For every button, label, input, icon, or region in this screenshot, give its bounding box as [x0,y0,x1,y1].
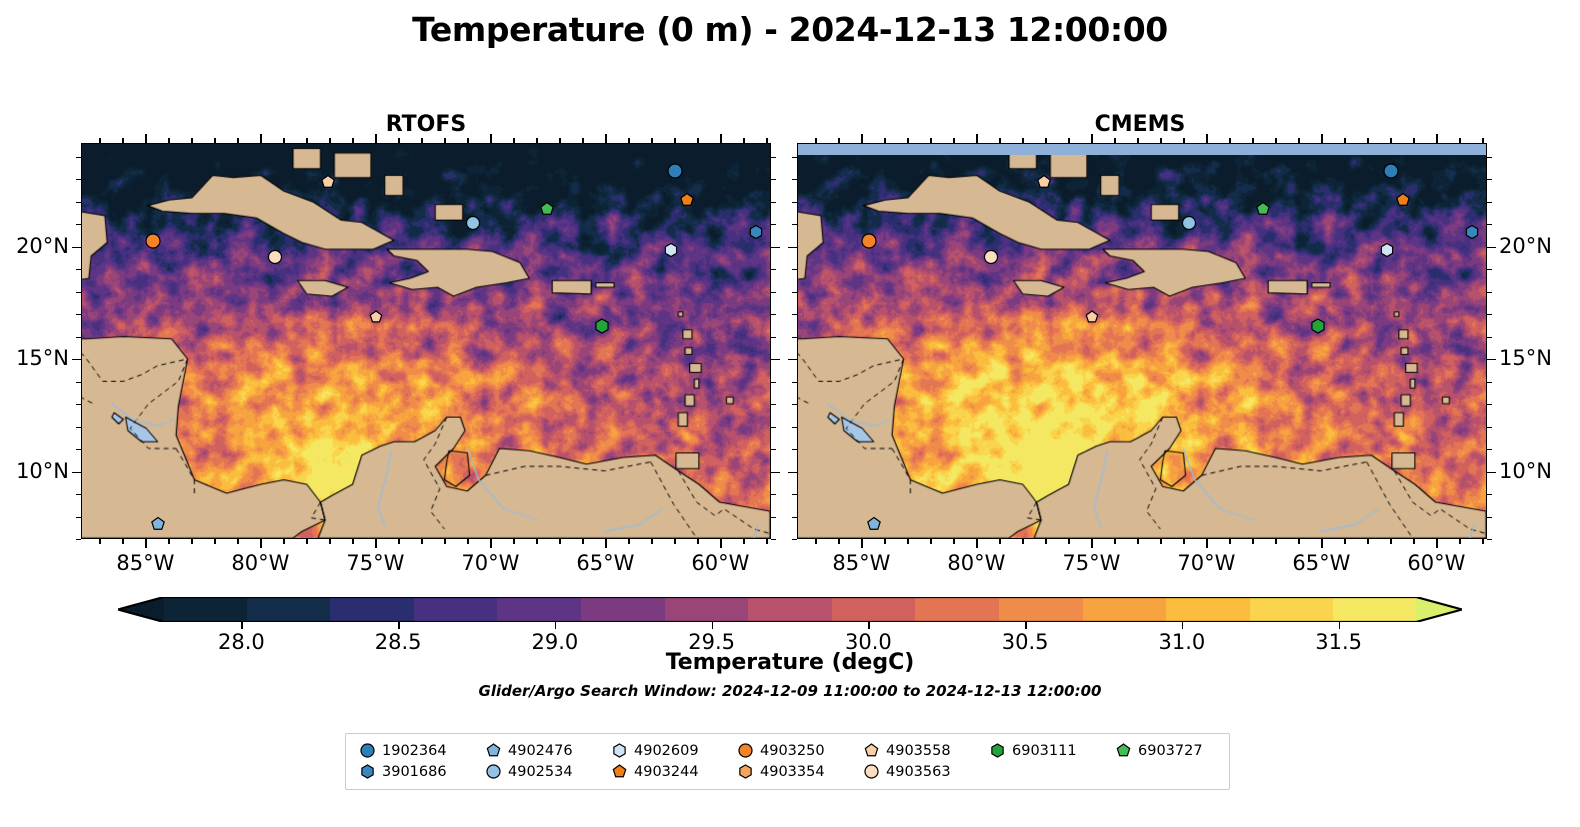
y-axis-label: 15°N [1499,346,1580,370]
legend-label: 4902609 [630,743,699,759]
legend-marker-pentagon-icon [608,763,630,780]
x-axis-tick [1436,539,1437,548]
y-axis-tick [1487,494,1492,495]
x-axis-tick [329,138,330,143]
legend-item-4903250: 4903250 [734,742,860,759]
x-axis-tick [1114,539,1115,544]
x-axis-tick [1459,138,1460,143]
float-marker-3901686[interactable] [747,223,764,240]
colorbar-tick [1339,622,1340,629]
legend-item-4902476: 4902476 [482,742,608,759]
y-axis-tick [771,539,776,540]
legend-marker-hexagon-icon [356,763,378,780]
x-axis-tick [1091,134,1092,143]
y-axis-tick [1487,382,1492,383]
y-axis-tick [771,157,776,158]
x-axis-tick [1367,539,1368,544]
y-axis-tick [788,247,797,248]
legend-row: 39016864902534490324449033544903563 [356,761,1219,782]
y-axis-tick [76,269,81,270]
x-axis-tick [1390,539,1391,544]
legend-label: 4903244 [630,764,699,780]
x-axis-tick [1229,539,1230,544]
x-axis-tick [1367,138,1368,143]
x-axis-tick [99,539,100,544]
y-axis-tick [76,494,81,495]
float-marker-1902364[interactable] [1382,162,1400,180]
x-axis-label: 75°W [1036,551,1146,575]
x-axis-tick [260,539,261,548]
x-axis-label: 60°W [1381,551,1491,575]
colorbar-tick [398,622,399,629]
x-axis-tick [720,539,721,548]
x-axis-tick [214,138,215,143]
no-data-strip [798,144,1486,155]
y-axis-tick [1487,157,1492,158]
x-axis-tick [743,539,744,544]
legend-label: 6903111 [1008,743,1077,759]
x-axis-tick [605,539,606,548]
float-marker-4903558[interactable] [368,309,384,325]
y-axis-tick [771,314,776,315]
x-axis-tick [145,134,146,143]
page-title: Temperature (0 m) - 2024-12-13 12:00:00 [0,10,1580,49]
x-axis-tick [352,539,353,544]
float-marker-6903727[interactable] [1254,201,1271,218]
x-axis-tick [444,539,445,544]
x-axis-tick [1275,138,1276,143]
y-axis-tick [771,202,776,203]
x-axis-tick [168,138,169,143]
y-axis-tick [788,472,797,473]
x-axis-tick [884,539,885,544]
y-axis-tick [76,202,81,203]
x-axis-tick [214,539,215,544]
y-axis-tick [76,314,81,315]
x-axis-tick [1022,539,1023,544]
x-axis-tick [490,134,491,143]
x-axis-label: 85°W [90,551,200,575]
y-axis-tick [771,427,776,428]
y-axis-tick [792,224,797,225]
y-axis-label: 10°N [0,459,69,483]
x-axis-tick [582,138,583,143]
float-marker-4902534[interactable] [1181,214,1198,231]
legend-item-4902534: 4902534 [482,763,608,780]
y-axis-tick [76,427,81,428]
y-axis-tick [771,472,780,473]
x-axis-tick [1206,134,1207,143]
legend-marker-circle-icon [860,763,882,780]
legend-item-6903727: 6903727 [1112,742,1238,759]
y-axis-tick [771,494,776,495]
y-axis-tick [771,359,780,360]
y-axis-tick [792,427,797,428]
x-axis-tick [398,539,399,544]
y-axis-tick [792,404,797,405]
search-window-text: Glider/Argo Search Window: 2024-12-09 11… [0,682,1580,700]
y-axis-tick [1487,404,1492,405]
float-marker-4903558[interactable] [1036,174,1053,191]
y-axis-label: 10°N [1499,459,1580,483]
x-axis-tick [283,539,284,544]
x-axis-tick [1160,539,1161,544]
x-axis-tick [237,138,238,143]
y-axis-tick [1487,337,1492,338]
x-axis-tick [306,138,307,143]
x-axis-tick [930,138,931,143]
panel-title-rtofs: RTOFS [326,112,526,137]
y-axis-tick [1487,517,1492,518]
y-axis-tick [1487,472,1496,473]
x-axis-label: 65°W [1266,551,1376,575]
y-axis-tick [792,517,797,518]
x-axis-tick [1344,138,1345,143]
legend-marker-circle-icon [734,742,756,759]
x-axis-label: 70°W [1151,551,1261,575]
x-axis-tick [1114,138,1115,143]
x-axis-tick [884,138,885,143]
x-axis-tick [352,138,353,143]
float-legend: 1902364490247649026094903250490355869031… [345,733,1230,790]
y-axis-tick [72,472,81,473]
x-axis-tick [513,138,514,143]
colorbar-extend-high-arrow [1416,597,1462,622]
map-panel-rtofs[interactable] [81,143,771,539]
x-axis-tick [976,134,977,143]
x-axis-tick [838,539,839,544]
x-axis-tick [766,138,767,143]
legend-item-3901686: 3901686 [356,763,482,780]
legend-marker-hexagon-icon [986,742,1008,759]
y-axis-tick [76,179,81,180]
float-marker-4902476[interactable] [865,516,882,533]
colorbar-tick [241,622,242,629]
map-panel-cmems[interactable] [797,143,1487,539]
x-axis-label: 75°W [320,551,430,575]
x-axis-tick [1321,539,1322,548]
y-axis-tick [76,517,81,518]
y-axis-tick [788,359,797,360]
y-axis-tick [76,337,81,338]
x-axis-tick [260,134,261,143]
colorbar-gradient [163,597,1417,622]
float-marker-4903250[interactable] [860,232,878,250]
x-axis-label: 65°W [550,551,660,575]
y-axis-tick [771,449,776,450]
x-axis-tick [1275,539,1276,544]
float-marker-4903244[interactable] [678,192,695,209]
x-axis-tick [1252,539,1253,544]
legend-marker-pentagon-icon [482,742,504,759]
y-axis-tick [771,517,776,518]
x-axis-tick [1482,539,1483,544]
x-axis-tick [1068,539,1069,544]
x-axis-tick [375,539,376,548]
colorbar-extend-low-arrow [118,597,164,622]
x-axis-tick [191,138,192,143]
x-axis-tick [122,539,123,544]
float-marker-4902609[interactable] [1378,241,1395,258]
y-axis-label: 20°N [1499,234,1580,258]
x-axis-tick [999,138,1000,143]
y-axis-tick [1487,427,1492,428]
x-axis-label: 70°W [435,551,545,575]
float-marker-4902534[interactable] [465,214,482,231]
x-axis-tick [628,539,629,544]
x-axis-tick [861,134,862,143]
legend-marker-pentagon-icon [1112,742,1134,759]
legend-marker-circle-icon [356,742,378,759]
x-axis-tick [674,138,675,143]
float-marker-6903111[interactable] [593,317,611,335]
x-axis-tick [168,539,169,544]
colorbar-tick [712,622,713,629]
x-axis-tick [976,539,977,548]
y-axis-tick [792,494,797,495]
float-marker-4903558[interactable] [1084,309,1100,325]
x-axis-tick [582,539,583,544]
x-axis-tick [398,138,399,143]
y-axis-label: 20°N [0,234,69,258]
x-axis-tick [1459,539,1460,544]
x-axis-tick [999,539,1000,544]
legend-label: 4902476 [504,743,573,759]
x-axis-tick [1091,539,1092,548]
x-axis-tick [559,539,560,544]
x-axis-tick [306,539,307,544]
float-marker-4903244[interactable] [1394,192,1411,209]
y-axis-tick [1487,292,1492,293]
y-axis-tick [1487,269,1492,270]
legend-marker-pentagon-icon [860,742,882,759]
y-axis-tick [72,247,81,248]
y-axis-tick [76,292,81,293]
y-axis-label: 15°N [0,346,69,370]
legend-label: 4902534 [504,764,573,780]
x-axis-tick [1068,138,1069,143]
float-marker-4903558[interactable] [320,174,337,191]
x-axis-tick [953,138,954,143]
colorbar-tick [868,622,869,629]
legend-label: 4903558 [882,743,951,759]
x-axis-tick [930,539,931,544]
legend-label: 4903563 [882,764,951,780]
x-axis-tick [329,539,330,544]
float-marker-1902364[interactable] [666,162,684,180]
x-axis-tick [1252,138,1253,143]
x-axis-tick [1298,539,1299,544]
x-axis-tick [766,539,767,544]
x-axis-tick [536,539,537,544]
ocean-temperature-field-rtofs [82,144,770,538]
x-axis-tick [1298,138,1299,143]
x-axis-tick [743,138,744,143]
y-axis-tick [792,269,797,270]
x-axis-tick [907,138,908,143]
x-axis-tick [1344,539,1345,544]
x-axis-tick [1045,539,1046,544]
legend-marker-hexagon-icon [734,763,756,780]
float-marker-4903563[interactable] [267,248,284,265]
x-axis-tick [1045,138,1046,143]
x-axis-tick [1390,138,1391,143]
legend-label: 6903727 [1134,743,1203,759]
y-axis-tick [771,404,776,405]
y-axis-tick [76,382,81,383]
y-axis-tick [792,314,797,315]
legend-item-4902609: 4902609 [608,742,734,759]
x-axis-tick [122,138,123,143]
y-axis-tick [1487,359,1496,360]
x-axis-tick [1413,539,1414,544]
x-axis-tick [953,539,954,544]
legend-label: 1902364 [378,743,447,759]
colorbar-label: Temperature (degC) [0,650,1580,675]
x-axis-tick [467,539,468,544]
x-axis-tick [444,138,445,143]
x-axis-tick [421,138,422,143]
legend-label: 3901686 [378,764,447,780]
y-axis-tick [76,539,81,540]
x-axis-tick [815,138,816,143]
x-axis-tick [1482,138,1483,143]
x-axis-tick [1229,138,1230,143]
x-axis-tick [861,539,862,548]
legend-item-1902364: 1902364 [356,742,482,759]
x-axis-tick [99,138,100,143]
x-axis-tick [375,134,376,143]
x-axis-tick [467,138,468,143]
panel-title-cmems: CMEMS [1040,112,1240,137]
x-axis-tick [283,138,284,143]
x-axis-tick [720,134,721,143]
x-axis-tick [651,138,652,143]
legend-marker-circle-icon [482,763,504,780]
x-axis-tick [536,138,537,143]
y-axis-tick [771,292,776,293]
x-axis-tick [1206,539,1207,548]
y-axis-tick [1487,449,1492,450]
x-axis-tick [145,539,146,548]
x-axis-tick [1321,134,1322,143]
float-marker-4902609[interactable] [662,241,679,258]
x-axis-tick [237,539,238,544]
x-axis-tick [1022,138,1023,143]
y-axis-tick [771,224,776,225]
colorbar: 28.028.529.029.530.030.531.031.5 [118,597,1462,622]
float-marker-6903111[interactable] [1309,317,1327,335]
y-axis-tick [771,382,776,383]
x-axis-tick [907,539,908,544]
y-axis-tick [1487,179,1492,180]
x-axis-label: 60°W [665,551,775,575]
float-marker-6903727[interactable] [538,201,555,218]
legend-item-4903563: 4903563 [860,763,986,780]
colorbar-tick [555,622,556,629]
y-axis-tick [1487,224,1492,225]
legend-item-4903558: 4903558 [860,742,986,759]
x-axis-label: 85°W [806,551,916,575]
x-axis-tick [559,138,560,143]
x-axis-tick [1436,134,1437,143]
y-axis-tick [771,179,776,180]
x-axis-tick [605,134,606,143]
x-axis-tick [838,138,839,143]
y-axis-tick [792,179,797,180]
x-axis-tick [1183,138,1184,143]
float-marker-4902476[interactable] [149,516,166,533]
y-axis-tick [792,382,797,383]
y-axis-tick [76,449,81,450]
y-axis-tick [76,157,81,158]
x-axis-tick [674,539,675,544]
legend-row: 1902364490247649026094903250490355869031… [356,740,1219,761]
x-axis-label: 80°W [921,551,1031,575]
float-marker-4903563[interactable] [983,248,1000,265]
y-axis-tick [792,292,797,293]
y-axis-tick [792,539,797,540]
x-axis-tick [815,539,816,544]
legend-marker-hexagon-icon [608,742,630,759]
x-axis-tick [697,138,698,143]
float-marker-4903250[interactable] [144,232,162,250]
legend-item-4903354: 4903354 [734,763,860,780]
y-axis-tick [72,359,81,360]
y-axis-tick [792,337,797,338]
x-axis-tick [1137,138,1138,143]
legend-item-4903244: 4903244 [608,763,734,780]
y-axis-tick [771,269,776,270]
y-axis-tick [792,202,797,203]
x-axis-tick [191,539,192,544]
y-axis-tick [1487,539,1492,540]
y-axis-tick [792,157,797,158]
legend-label: 4903250 [756,743,825,759]
colorbar-tick [1182,622,1183,629]
y-axis-tick [771,337,776,338]
x-axis-tick [651,539,652,544]
x-axis-tick [628,138,629,143]
x-axis-tick [421,539,422,544]
x-axis-tick [513,539,514,544]
x-axis-label: 80°W [205,551,315,575]
x-axis-tick [490,539,491,548]
y-axis-tick [76,404,81,405]
x-axis-tick [1413,138,1414,143]
x-axis-tick [1183,539,1184,544]
x-axis-tick [697,539,698,544]
legend-item-6903111: 6903111 [986,742,1112,759]
ocean-temperature-field-cmems [798,144,1486,538]
y-axis-tick [1487,314,1492,315]
y-axis-tick [771,247,780,248]
y-axis-tick [76,224,81,225]
x-axis-tick [1160,138,1161,143]
colorbar-tick [1025,622,1026,629]
x-axis-tick [1137,539,1138,544]
legend-label: 4903354 [756,764,825,780]
y-axis-tick [1487,247,1496,248]
y-axis-tick [792,449,797,450]
y-axis-tick [1487,202,1492,203]
float-marker-3901686[interactable] [1463,223,1480,240]
